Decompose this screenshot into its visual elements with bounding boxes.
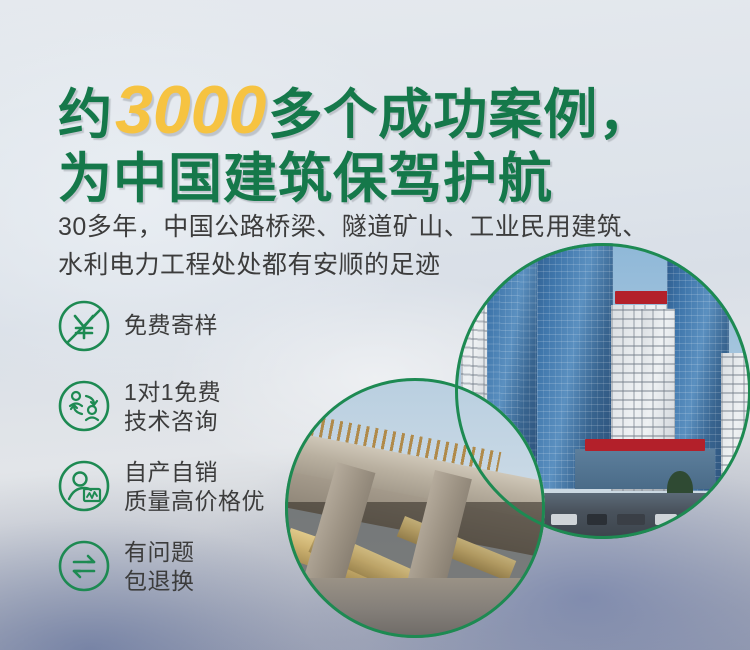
building-car xyxy=(551,514,577,525)
feature-list: 免费寄样 1对1免费 技术咨询 xyxy=(56,298,316,618)
building-car xyxy=(617,514,645,525)
feature-line-1: 免费寄样 xyxy=(124,312,218,338)
building-podium xyxy=(575,449,715,489)
feature-item-return-exchange: 有问题 包退换 xyxy=(56,538,316,618)
exchange-return-icon xyxy=(56,538,112,594)
headline-prefix: 约 xyxy=(58,85,113,145)
feature-item-consulting: 1对1免费 技术咨询 xyxy=(56,378,316,458)
one-on-one-consult-icon xyxy=(56,378,112,434)
feature-text-consulting: 1对1免费 技术咨询 xyxy=(124,378,334,436)
feature-line-1: 自产自销 xyxy=(124,459,218,485)
feature-line-2: 技术咨询 xyxy=(124,407,334,436)
headline-number: 3000 xyxy=(113,72,268,148)
no-fee-yuan-icon xyxy=(56,298,112,354)
headline-suffix: 多个成功案例， xyxy=(268,85,653,145)
subtitle-line-1: 30多年，中国公路桥梁、隧道矿山、工业民用建筑、 xyxy=(58,208,738,246)
subtitle-line-2: 水利电力工程处处都有安顺的足迹 xyxy=(58,246,738,284)
feature-line-2: 包退换 xyxy=(124,567,334,596)
feature-line-1: 1对1免费 xyxy=(124,379,221,405)
self-production-chart-icon xyxy=(56,458,112,514)
headline: 约3000多个成功案例， 为中国建筑保驾护航 xyxy=(58,76,718,206)
headline-line2: 为中国建筑保驾护航 xyxy=(58,152,718,206)
feature-item-free-sample: 免费寄样 xyxy=(56,298,316,378)
feature-text-free-sample: 免费寄样 xyxy=(124,311,334,340)
feature-line-1: 有问题 xyxy=(124,539,195,565)
feature-text-return-exchange: 有问题 包退换 xyxy=(124,538,334,596)
subtitle: 30多年，中国公路桥梁、隧道矿山、工业民用建筑、 水利电力工程处处都有安顺的足迹 xyxy=(58,208,738,284)
feature-text-self-production: 自产自销 质量高价格优 xyxy=(124,458,334,516)
feature-item-self-production: 自产自销 质量高价格优 xyxy=(56,458,316,538)
building-block-far-right xyxy=(721,353,750,493)
promo-banner: 约3000多个成功案例， 为中国建筑保驾护航 30多年，中国公路桥梁、隧道矿山、… xyxy=(0,0,750,650)
building-car xyxy=(655,514,677,525)
building-sign-lower xyxy=(585,439,705,451)
building-car xyxy=(587,514,607,525)
feature-line-2: 质量高价格优 xyxy=(124,487,334,516)
